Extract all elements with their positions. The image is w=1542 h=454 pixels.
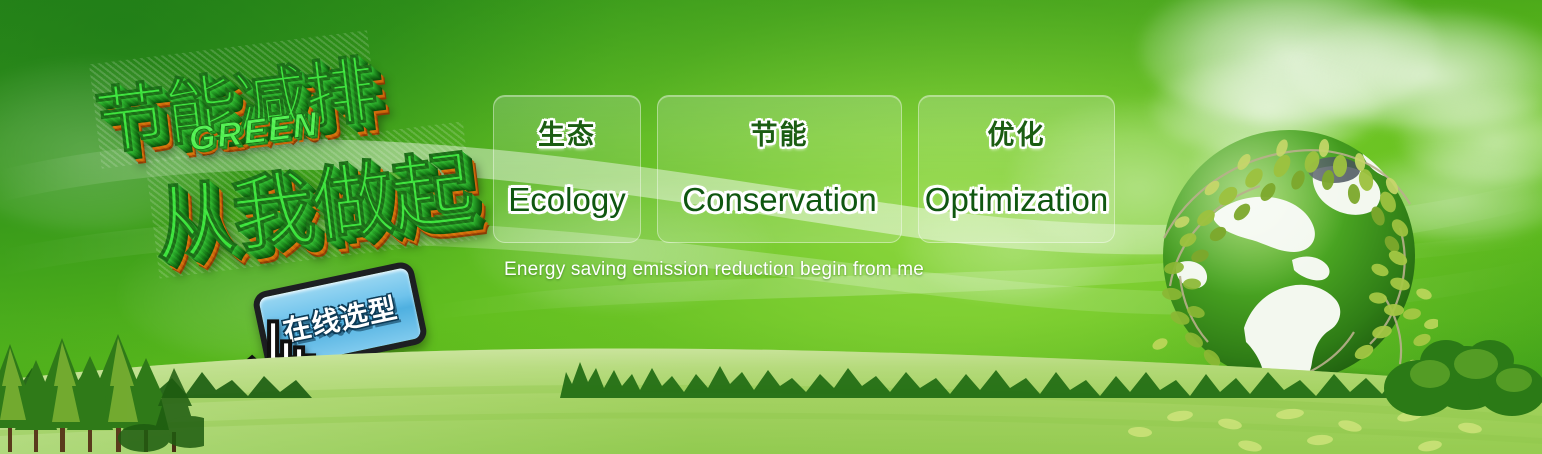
banner-tagline: Energy saving emission reduction begin f…: [504, 259, 924, 281]
feature-card-en-label: Conservation: [682, 183, 876, 216]
shrub-icon: [1380, 322, 1542, 418]
feature-card-optimization[interactable]: 优化 Optimization: [918, 95, 1115, 243]
feature-card-cn-label: 节能: [751, 122, 809, 149]
headline-3d: 节能减排 GREEN 从我做起: [82, 7, 508, 294]
feature-card-ecology[interactable]: 生态 Ecology: [493, 95, 641, 243]
feature-card-cn-label: 优化: [988, 122, 1046, 149]
pine-tree-icon: [0, 334, 204, 454]
feature-card-en-label: Optimization: [925, 183, 1108, 216]
feature-card-en-label: Ecology: [508, 183, 625, 216]
distant-treeline: [0, 328, 1542, 398]
feature-card-cn-label: 生态: [538, 122, 596, 149]
promo-banner: 节能减排 GREEN 从我做起 在线选型 生态 Ecology 节能 Conse…: [0, 0, 1542, 454]
feature-card-conservation[interactable]: 节能 Conservation: [657, 95, 902, 243]
feature-card-list: 生态 Ecology 节能 Conservation 优化 Optimizati…: [493, 95, 1115, 243]
